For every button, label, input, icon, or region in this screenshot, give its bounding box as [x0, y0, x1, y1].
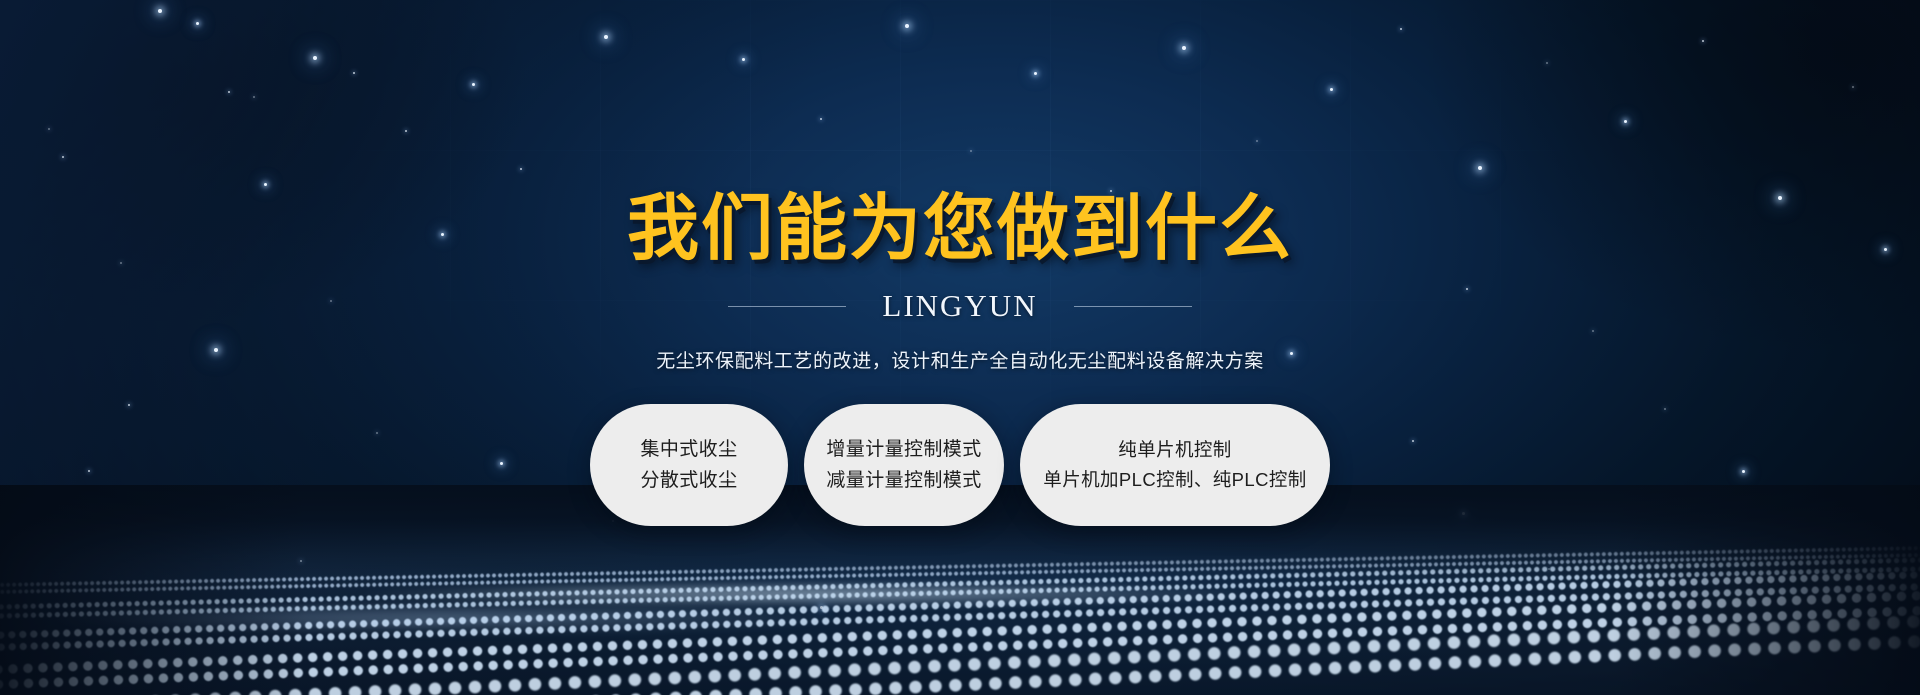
feature-card-line-2: 分散式收尘 — [640, 471, 737, 490]
banner-content: 我们能为您做到什么 LINGYUN 无尘环保配料工艺的改进，设计和生产全自动化无… — [0, 0, 1920, 695]
feature-card-line-2: 减量计量控制模式 — [826, 471, 981, 490]
divider-line-left — [728, 306, 846, 307]
feature-card-line-2: 单片机加PLC控制、纯PLC控制 — [1043, 471, 1306, 490]
divider-line-right — [1074, 306, 1192, 307]
feature-card-dust-collection[interactable]: 集中式收尘 分散式收尘 — [590, 404, 788, 526]
feature-card-list: 集中式收尘 分散式收尘 增量计量控制模式 减量计量控制模式 纯单片机控制 单片机… — [590, 404, 1330, 526]
feature-card-line-1: 集中式收尘 — [640, 440, 737, 459]
banner-description: 无尘环保配料工艺的改进，设计和生产全自动化无尘配料设备解决方案 — [656, 346, 1264, 373]
hero-banner: 我们能为您做到什么 LINGYUN 无尘环保配料工艺的改进，设计和生产全自动化无… — [0, 0, 1920, 695]
feature-card-line-1: 纯单片机控制 — [1118, 441, 1231, 460]
feature-card-metering-mode[interactable]: 增量计量控制模式 减量计量控制模式 — [804, 404, 1004, 526]
feature-card-control-system[interactable]: 纯单片机控制 单片机加PLC控制、纯PLC控制 — [1020, 404, 1330, 526]
brand-subtitle-row: LINGYUN — [728, 288, 1191, 324]
page-title: 我们能为您做到什么 — [627, 192, 1293, 264]
feature-card-line-1: 增量计量控制模式 — [826, 440, 981, 459]
brand-name-en: LINGYUN — [882, 288, 1037, 324]
